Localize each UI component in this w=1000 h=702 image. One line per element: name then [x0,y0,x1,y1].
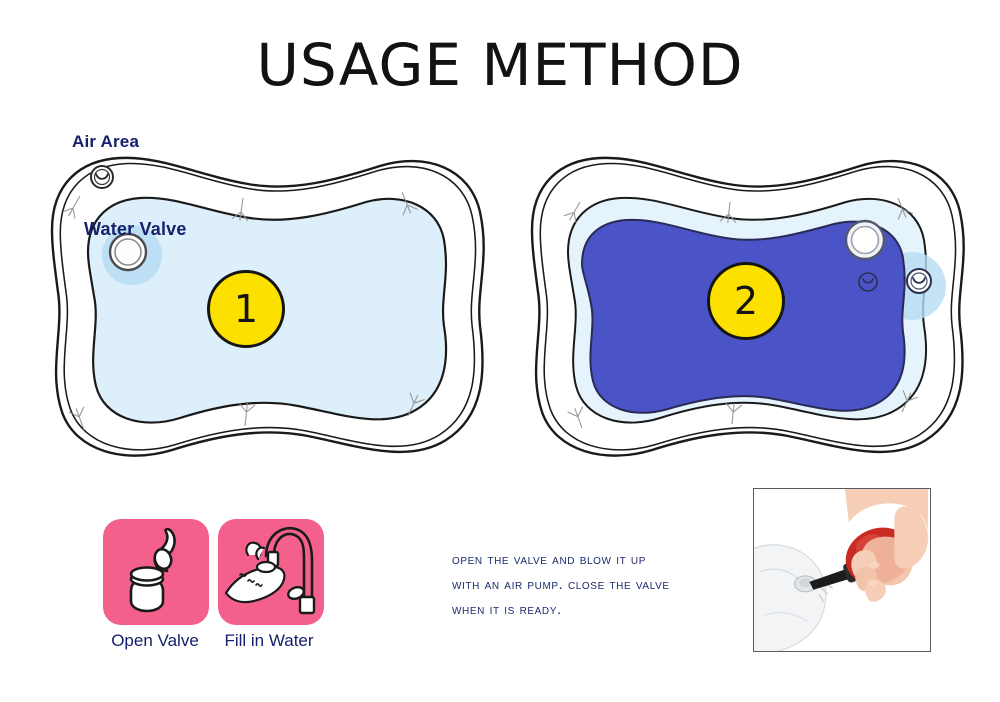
instruction-paragraph: OPEN THE VALVE AND BLOW IT UP WITH AN AI… [452,548,752,623]
air-pump-photo [753,488,931,652]
page-title: USAGE METHOD [0,36,1000,94]
step-number-badge-1: 1 [207,270,285,348]
tile-open-valve[interactable]: Open Valve [103,519,209,651]
air-valve-icon[interactable] [91,166,113,188]
fill-water-tile-background[interactable] [218,519,324,625]
callout-water-valve: Water Valve [84,219,187,240]
callout-air-area: Air Area [72,132,139,152]
usage-method-page: USAGE METHOD [0,0,1000,702]
open-valve-caption: Open Valve [102,631,208,651]
water-valve-icon[interactable] [846,221,884,259]
air-valve-icon[interactable] [907,269,931,293]
instruction-line-3: WHEN IT IS READY. [452,598,752,623]
faucet-icon [218,519,324,625]
tile-fill-water[interactable]: Fill in Water [218,519,324,651]
instruction-line-1: OPEN THE VALVE AND BLOW IT UP [452,548,752,573]
instruction-line-2: WITH AN AIR PUMP. CLOSE THE VALVE [452,573,752,598]
open-valve-tile-background[interactable] [103,519,209,625]
fill-water-caption: Fill in Water [216,631,322,651]
valve-cap-icon [103,519,209,625]
step-number-badge-2: 2 [707,262,785,340]
